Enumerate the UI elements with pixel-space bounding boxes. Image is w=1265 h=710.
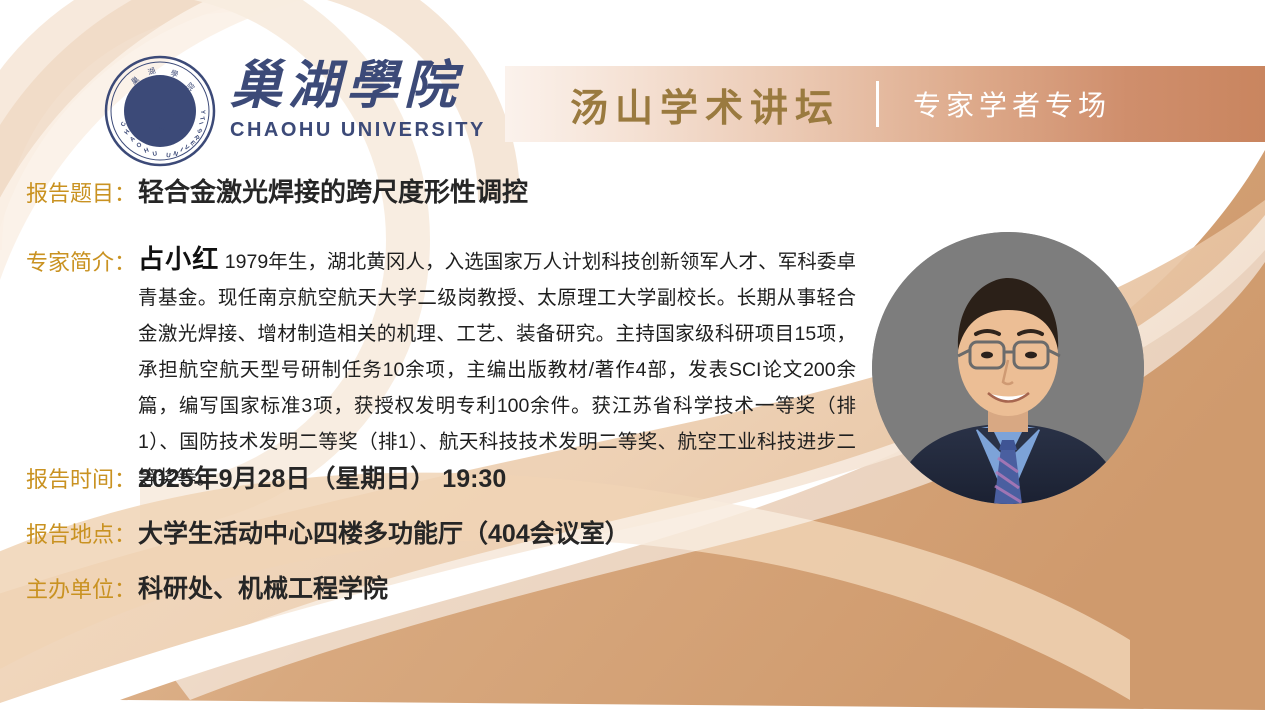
speaker-portrait-image <box>872 232 1144 504</box>
value-host-organization: 科研处、机械工程学院 <box>138 573 388 606</box>
label-speaker-bio: 专家简介： <box>26 241 136 279</box>
row-host-organization: 主办单位： 科研处、机械工程学院 <box>26 573 388 606</box>
row-lecture-time: 报告时间： 2025年9月28日（星期日） 19:30 <box>26 463 506 496</box>
lecture-poster: 1977 巢 湖 學 院 C H A O H U U N I V <box>0 0 1265 710</box>
speaker-bio-body: 占小红 1979年生，湖北黄冈人，入选国家万人计划科技创新领军人才、军科委卓青基… <box>138 241 856 496</box>
row-speaker-bio: 专家简介： 占小红 1979年生，湖北黄冈人，入选国家万人计划科技创新领军人才、… <box>26 241 876 496</box>
speaker-bio-text: 1979年生，湖北黄冈人，入选国家万人计划科技创新领军人才、军科委卓青基金。现任… <box>138 251 856 489</box>
label-lecture-place: 报告地点： <box>26 519 136 551</box>
row-lecture-title: 报告题目： 轻合金激光焊接的跨尺度形性调控 <box>26 176 528 210</box>
value-lecture-time: 2025年9月28日（星期日） 19:30 <box>138 463 506 496</box>
label-lecture-time: 报告时间： <box>26 464 136 496</box>
label-host-organization: 主办单位： <box>26 574 136 606</box>
speaker-portrait <box>872 232 1144 504</box>
value-lecture-title: 轻合金激光焊接的跨尺度形性调控 <box>138 176 528 210</box>
label-lecture-title: 报告题目： <box>26 178 136 210</box>
row-lecture-place: 报告地点： 大学生活动中心四楼多功能厅（404会议室） <box>26 518 630 551</box>
speaker-name: 占小红 <box>138 244 219 274</box>
value-lecture-place: 大学生活动中心四楼多功能厅（404会议室） <box>138 518 630 551</box>
